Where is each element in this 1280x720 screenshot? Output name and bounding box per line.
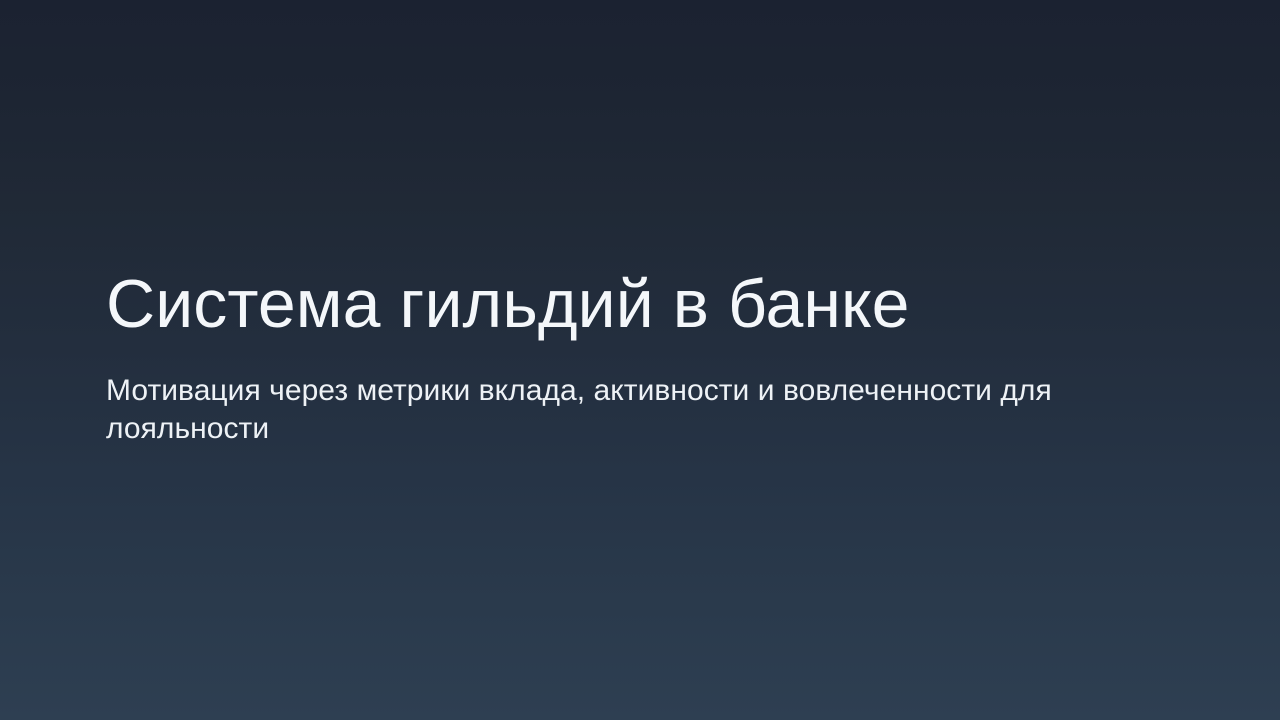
page-title: Система гильдий в банке: [106, 268, 1126, 340]
slide-subtitle: Мотивация через метрики вклада, активнос…: [106, 372, 1118, 448]
title-slide: Система гильдий в банке Мотивация через …: [0, 0, 1280, 720]
slide-text-block: Система гильдий в банке Мотивация через …: [106, 268, 1126, 448]
